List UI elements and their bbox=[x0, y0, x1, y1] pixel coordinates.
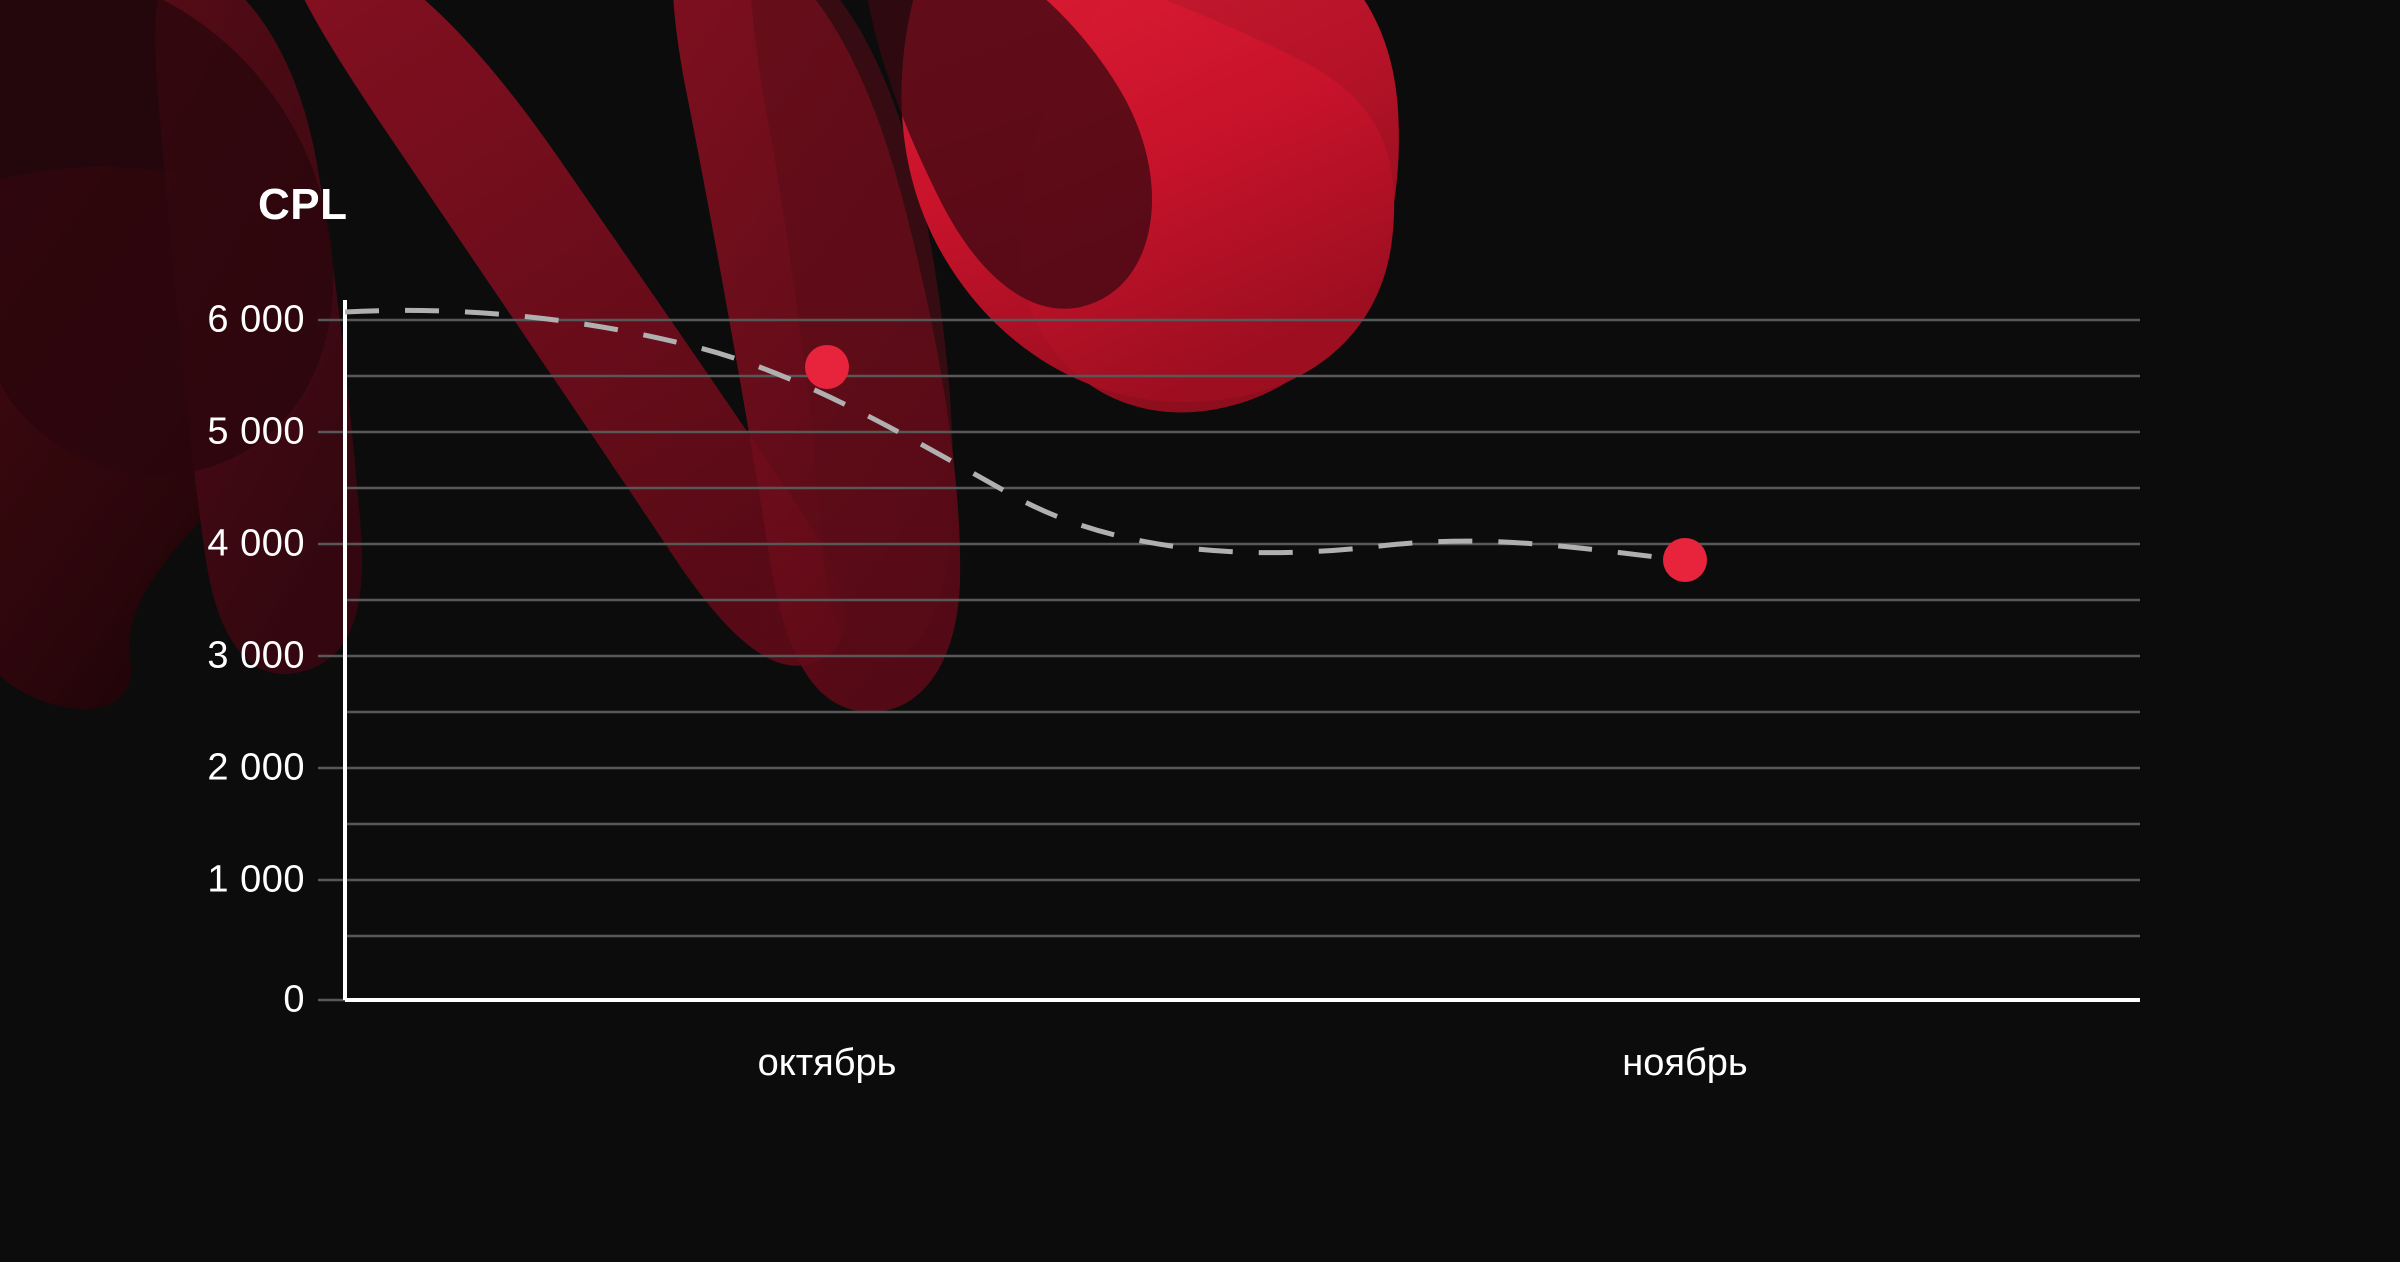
chart-canvas: CPL bbox=[0, 0, 2400, 1262]
y-axis-label-5000: 5 000 bbox=[207, 411, 305, 454]
y-axis-label-6000: 6 000 bbox=[207, 299, 305, 342]
y-axis-label-3000: 3 000 bbox=[207, 635, 305, 678]
y-axis-label-2000: 2 000 bbox=[207, 747, 305, 790]
x-axis-label-noyabr: ноябрь bbox=[1622, 1042, 1747, 1085]
y-axis-ticks bbox=[318, 320, 345, 1000]
data-point-marker-oktyabr[interactable] bbox=[805, 345, 849, 389]
x-axis-label-oktyabr: октябрь bbox=[758, 1042, 897, 1085]
y-axis-label-1000: 1 000 bbox=[207, 859, 305, 902]
data-point-marker-noyabr[interactable] bbox=[1663, 538, 1707, 582]
y-axis-label-0: 0 bbox=[283, 979, 305, 1022]
y-axis-label-4000: 4 000 bbox=[207, 523, 305, 566]
gridlines bbox=[345, 320, 2140, 936]
chart-plot bbox=[0, 0, 2400, 1262]
trend-line-dashed bbox=[345, 310, 1685, 560]
